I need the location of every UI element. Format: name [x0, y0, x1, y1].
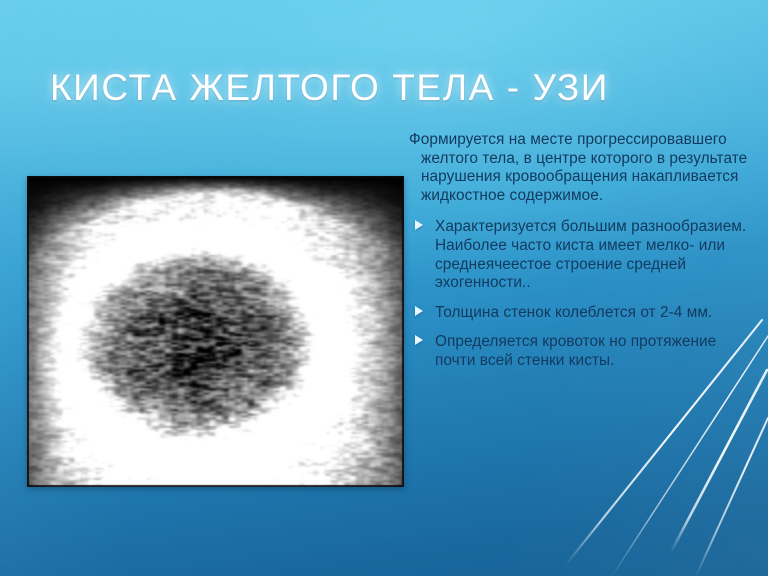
triangle-bullet-icon: [415, 335, 423, 345]
bullet-text: Характеризуется большим разнообразием. Н…: [435, 218, 761, 292]
slide: КИСТА ЖЕЛТОГО ТЕЛА - УЗИ: [0, 0, 768, 576]
triangle-bullet-icon: [415, 220, 423, 230]
body-text-column: Формируется на месте прогрессировавшего …: [409, 131, 761, 382]
bullet-item-3: Определяется кровоток но протяжение почт…: [409, 333, 761, 370]
triangle-bullet-icon: [415, 306, 423, 316]
bullet-text: Толщина стенок колеблется от 2-4 мм.: [435, 304, 761, 323]
ultrasound-image: [27, 176, 404, 487]
page-title: КИСТА ЖЕЛТОГО ТЕЛА - УЗИ: [50, 60, 710, 116]
paragraph-intro: Формируется на месте прогрессировавшего …: [409, 131, 761, 205]
bullet-text: Определяется кровоток но протяжение почт…: [435, 333, 761, 370]
paragraph-text: Формируется на месте прогрессировавшего …: [409, 131, 747, 204]
ultrasound-canvas: [27, 176, 404, 487]
bullet-item-2: Толщина стенок колеблется от 2-4 мм.: [409, 304, 761, 323]
bullet-item-1: Характеризуется большим разнообразием. Н…: [409, 218, 761, 292]
